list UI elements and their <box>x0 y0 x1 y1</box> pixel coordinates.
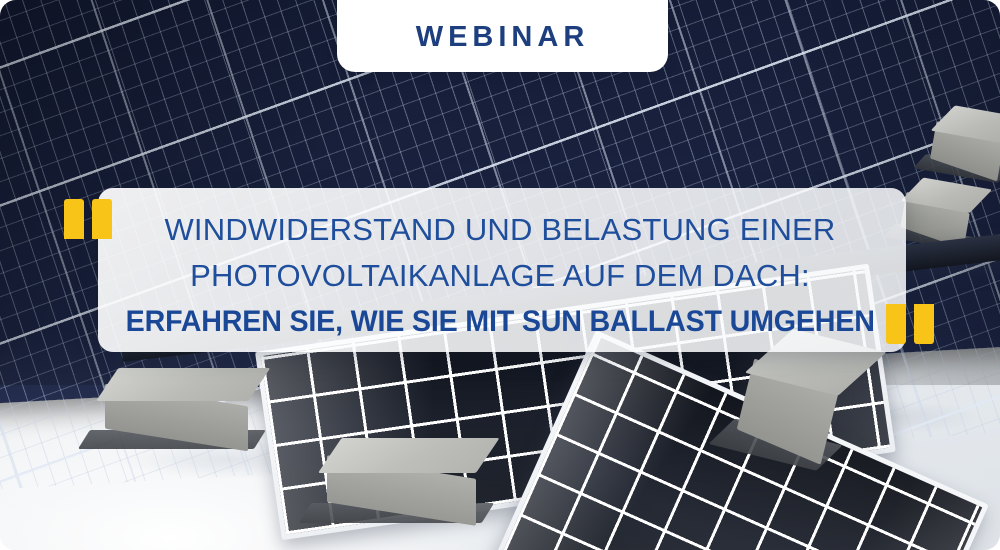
quote-line-2: PHOTOVOLTAIKANLAGE AUF DEM DACH: <box>190 260 810 291</box>
open-quote-icon <box>64 199 122 243</box>
quote-line-3-emphasis: ERFAHREN SIE, WIE SIE MIT SUN BALLAST UM… <box>125 307 874 337</box>
webinar-badge-label: WEBINAR <box>416 23 590 72</box>
webinar-badge: WEBINAR <box>337 0 668 72</box>
quote-line-1: WINDWIDERSTAND UND BELASTUNG EINER <box>164 214 835 245</box>
webinar-banner: WEBINAR WINDWIDERSTAND UND BELASTUNG EIN… <box>0 0 1000 550</box>
close-quote-icon <box>876 300 934 344</box>
quote-text-block: WINDWIDERSTAND UND BELASTUNG EINER PHOTO… <box>0 0 1000 550</box>
